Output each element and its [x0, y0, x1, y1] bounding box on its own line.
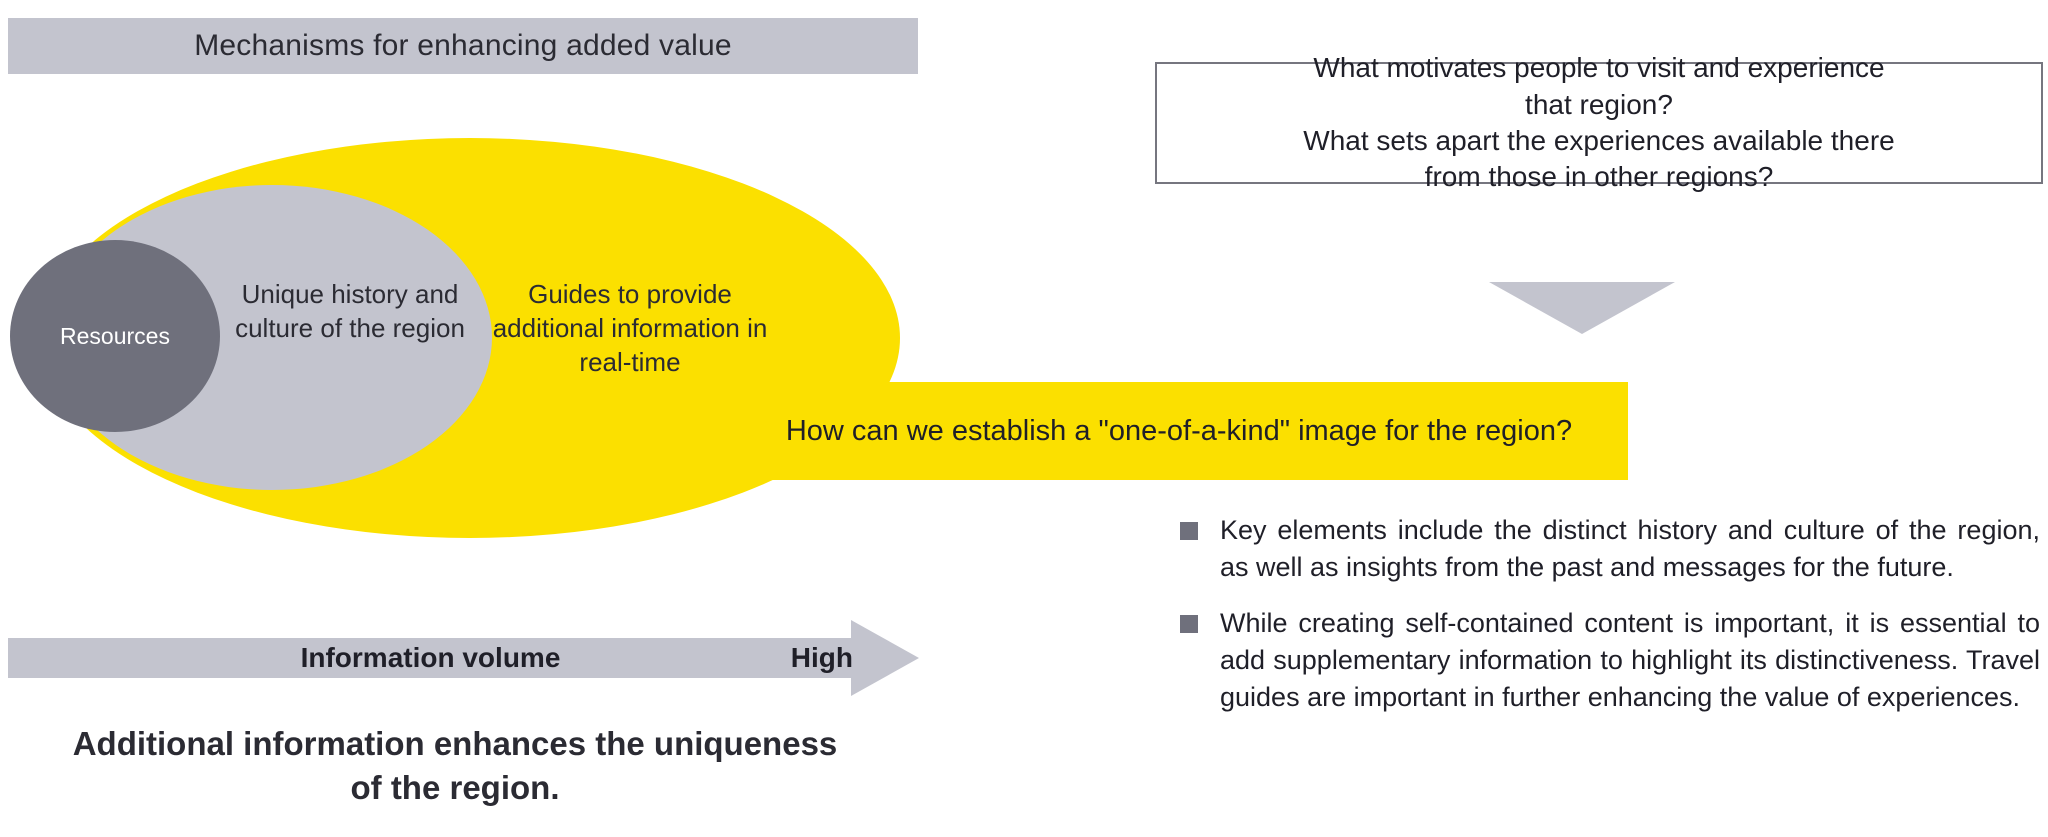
- list-item-text: While creating self-contained content is…: [1220, 605, 2040, 717]
- question-line-3: What sets apart the experiences availabl…: [1303, 125, 1894, 156]
- information-volume-arrow: Information volume High: [8, 620, 918, 696]
- middle-ellipse-label: Unique history and culture of the region: [235, 278, 465, 346]
- question-line-4: from those in other regions?: [1425, 161, 1774, 192]
- outer-ellipse-label: Guides to provide additional information…: [470, 278, 790, 379]
- list-item: While creating self-contained content is…: [1180, 605, 2040, 717]
- venn-diagram: Resources Unique history and culture of …: [0, 128, 930, 548]
- left-title-text: Mechanisms for enhancing added value: [194, 29, 732, 63]
- yellow-banner: How can we establish a "one-of-a-kind" i…: [730, 382, 1628, 480]
- inner-circle-dark: Resources: [10, 240, 220, 432]
- triangle-down-icon: [1489, 282, 1675, 334]
- arrow-end-label: High: [708, 638, 853, 678]
- question-line-1: What motivates people to visit and exper…: [1313, 52, 1884, 83]
- list-item-text: Key elements include the distinct histor…: [1220, 512, 2040, 587]
- inner-circle-label: Resources: [60, 323, 170, 350]
- slide-canvas: Mechanisms for enhancing added value Res…: [0, 0, 2048, 837]
- question-line-2: that region?: [1525, 89, 1673, 120]
- bullet-list: Key elements include the distinct histor…: [1180, 512, 2040, 734]
- list-item: Key elements include the distinct histor…: [1180, 512, 2040, 587]
- left-title-bar: Mechanisms for enhancing added value: [8, 18, 918, 74]
- square-bullet-icon: [1180, 615, 1198, 633]
- question-box: What motivates people to visit and exper…: [1155, 62, 2043, 184]
- arrow-head-icon: [851, 620, 919, 696]
- left-caption: Additional information enhances the uniq…: [60, 722, 850, 810]
- yellow-banner-text: How can we establish a "one-of-a-kind" i…: [766, 412, 1592, 451]
- square-bullet-icon: [1180, 522, 1198, 540]
